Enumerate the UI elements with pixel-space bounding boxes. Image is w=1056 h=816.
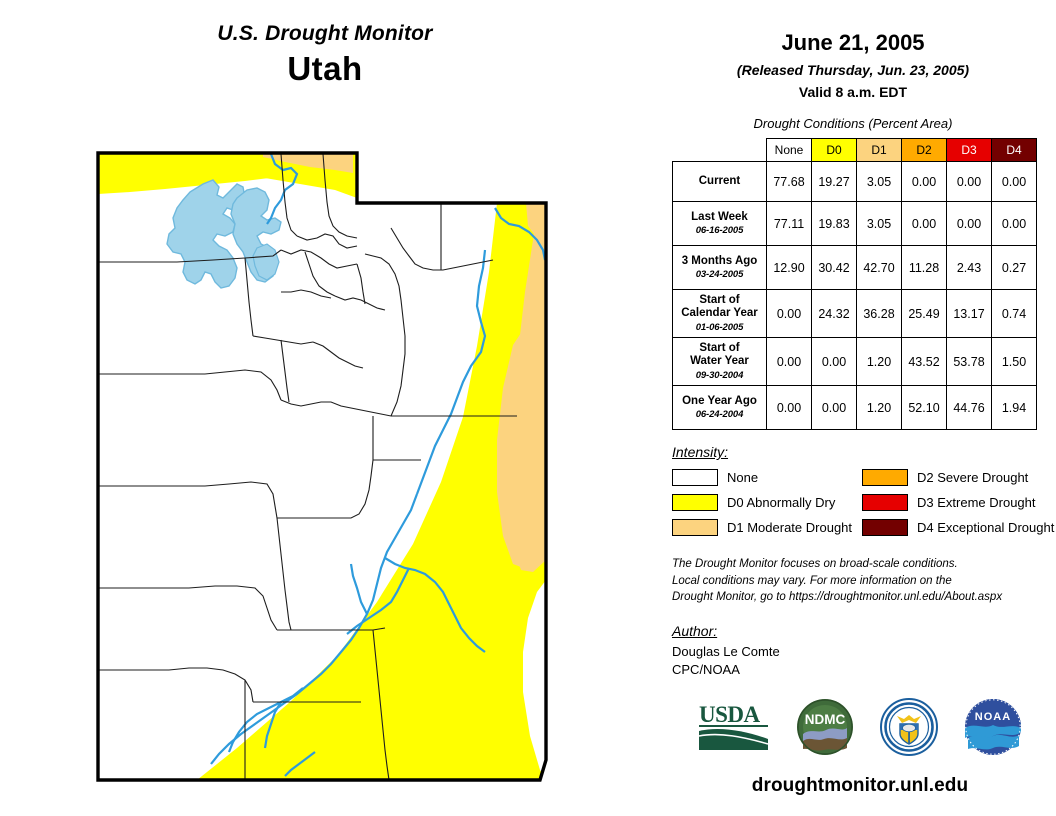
row-label-text: Start ofWater Year [690, 342, 749, 368]
table-row: Last Week 06-16-2005 77.11 19.83 3.05 0.… [673, 202, 1037, 246]
row-label-last-week: Last Week 06-16-2005 [673, 202, 767, 246]
swatch-d0 [672, 494, 718, 511]
cell-oneyr-d4: 1.94 [992, 386, 1037, 430]
cell-3mo-d4: 0.27 [992, 246, 1037, 290]
svg-text:NOAA: NOAA [975, 711, 1011, 723]
cell-wat-d1: 1.20 [857, 338, 902, 386]
column-header-d2: D2 [902, 139, 947, 162]
cell-oneyr-d2: 52.10 [902, 386, 947, 430]
cell-3mo-d0: 30.42 [812, 246, 857, 290]
map-fill-layer [85, 140, 610, 795]
cell-3mo-d3: 2.43 [947, 246, 992, 290]
cell-current-d2: 0.00 [902, 162, 947, 202]
cell-cal-d1: 36.28 [857, 290, 902, 338]
row-label-text: Current [699, 175, 741, 187]
disclaimer-text: The Drought Monitor focuses on broad-sca… [650, 556, 1056, 606]
table-header-row: None D0 D1 D2 D3 D4 [673, 139, 1037, 162]
logo-row: USDA NDMC [650, 698, 1056, 761]
utah-drought-map[interactable] [85, 140, 610, 795]
cell-lastweek-d4: 0.00 [992, 202, 1037, 246]
column-header-d1: D1 [857, 139, 902, 162]
column-header-d4: D4 [992, 139, 1037, 162]
legend-item-d4: D4 Exceptional Drought [862, 515, 1052, 540]
cell-current-none: 77.68 [767, 162, 812, 202]
legend-item-d1: D1 Moderate Drought [672, 515, 862, 540]
cell-lastweek-d2: 0.00 [902, 202, 947, 246]
legend-label-d4: D4 Exceptional Drought [917, 520, 1054, 535]
legend-label-d3: D3 Extreme Drought [917, 495, 1036, 510]
row-label-current: Current [673, 162, 767, 202]
table-corner-cell [673, 139, 767, 162]
cell-oneyr-d3: 44.76 [947, 386, 992, 430]
map-title-block: U.S. Drought Monitor Utah [0, 22, 650, 88]
map-panel: U.S. Drought Monitor Utah [0, 0, 650, 816]
cell-oneyr-d1: 1.20 [857, 386, 902, 430]
legend-label-none: None [727, 470, 758, 485]
table-row: 3 Months Ago 03-24-2005 12.90 30.42 42.7… [673, 246, 1037, 290]
site-url[interactable]: droughtmonitor.unl.edu [650, 775, 1056, 797]
author-affiliation: CPC/NOAA [672, 661, 1056, 679]
disclaimer-line: The Drought Monitor focuses on broad-sca… [672, 556, 1056, 573]
row-label-3-months-ago: 3 Months Ago 03-24-2005 [673, 246, 767, 290]
disclaimer-line: Local conditions may vary. For more info… [672, 573, 1056, 590]
row-label-text: 3 Months Ago [682, 255, 758, 267]
author-name: Douglas Le Comte [672, 643, 1056, 661]
row-label-start-water-year: Start ofWater Year 09-30-2004 [673, 338, 767, 386]
row-label-date: 06-16-2005 [675, 225, 764, 236]
cell-cal-d2: 25.49 [902, 290, 947, 338]
row-label-date: 06-24-2004 [675, 409, 764, 420]
swatch-none [672, 469, 718, 486]
cell-current-d3: 0.00 [947, 162, 992, 202]
legend-item-d3: D3 Extreme Drought [862, 490, 1052, 515]
cell-3mo-none: 12.90 [767, 246, 812, 290]
column-header-d0: D0 [812, 139, 857, 162]
usdc-seal-logo [880, 698, 938, 761]
legend-label-d1: D1 Moderate Drought [727, 520, 852, 535]
swatch-d2 [862, 469, 908, 486]
cell-current-d1: 3.05 [857, 162, 902, 202]
cell-lastweek-d3: 0.00 [947, 202, 992, 246]
cell-cal-d0: 24.32 [812, 290, 857, 338]
page-title: U.S. Drought Monitor [0, 22, 650, 46]
svg-text:USDA: USDA [699, 702, 761, 727]
drought-conditions-table: None D0 D1 D2 D3 D4 Current 77.68 19.27 … [672, 138, 1037, 430]
table-row: Start ofWater Year 09-30-2004 0.00 0.00 … [673, 338, 1037, 386]
legend-column-right: D2 Severe Drought D3 Extreme Drought D4 … [862, 465, 1052, 540]
cell-cal-none: 0.00 [767, 290, 812, 338]
cell-lastweek-d1: 3.05 [857, 202, 902, 246]
column-header-d3: D3 [947, 139, 992, 162]
state-title: Utah [0, 50, 650, 88]
table-row: Start ofCalendar Year 01-06-2005 0.00 24… [673, 290, 1037, 338]
cell-wat-none: 0.00 [767, 338, 812, 386]
legend-label-d0: D0 Abnormally Dry [727, 495, 835, 510]
table-row: Current 77.68 19.27 3.05 0.00 0.00 0.00 [673, 162, 1037, 202]
cell-wat-d3: 53.78 [947, 338, 992, 386]
row-label-text: Start ofCalendar Year [681, 294, 758, 320]
author-title: Author: [672, 623, 1056, 639]
usda-logo: USDA [698, 700, 770, 759]
intensity-legend: Intensity: None D0 Abnormally Dry D1 Mod… [650, 444, 1056, 540]
cell-cal-d3: 13.17 [947, 290, 992, 338]
column-header-none: None [767, 139, 812, 162]
swatch-d1 [672, 519, 718, 536]
legend-column-left: None D0 Abnormally Dry D1 Moderate Droug… [672, 465, 862, 540]
noaa-logo: NOAA [964, 698, 1022, 761]
row-label-date: 03-24-2005 [675, 269, 764, 280]
info-panel: June 21, 2005 (Released Thursday, Jun. 2… [650, 0, 1056, 816]
cell-cal-d4: 0.74 [992, 290, 1037, 338]
cell-3mo-d1: 42.70 [857, 246, 902, 290]
disclaimer-line: Drought Monitor, go to https://droughtmo… [672, 589, 1056, 606]
table-caption: Drought Conditions (Percent Area) [650, 116, 1056, 131]
cell-3mo-d2: 11.28 [902, 246, 947, 290]
drought-conditions-table-wrap: None D0 D1 D2 D3 D4 Current 77.68 19.27 … [650, 138, 1056, 430]
intensity-legend-title: Intensity: [672, 444, 1056, 460]
row-label-start-calendar-year: Start ofCalendar Year 01-06-2005 [673, 290, 767, 338]
cell-oneyr-none: 0.00 [767, 386, 812, 430]
svg-text:NDMC: NDMC [805, 712, 846, 727]
map-date: June 21, 2005 [650, 30, 1056, 56]
row-label-one-year-ago: One Year Ago 06-24-2004 [673, 386, 767, 430]
cell-wat-d0: 0.00 [812, 338, 857, 386]
row-label-date: 01-06-2005 [675, 322, 764, 333]
table-row: One Year Ago 06-24-2004 0.00 0.00 1.20 5… [673, 386, 1037, 430]
swatch-d3 [862, 494, 908, 511]
date-block: June 21, 2005 (Released Thursday, Jun. 2… [650, 0, 1056, 100]
release-date: (Released Thursday, Jun. 23, 2005) [650, 62, 1056, 78]
map-svg [85, 140, 610, 795]
cell-oneyr-d0: 0.00 [812, 386, 857, 430]
legend-item-d0: D0 Abnormally Dry [672, 490, 862, 515]
legend-item-none: None [672, 465, 862, 490]
cell-lastweek-none: 77.11 [767, 202, 812, 246]
cell-wat-d2: 43.52 [902, 338, 947, 386]
legend-item-d2: D2 Severe Drought [862, 465, 1052, 490]
row-label-date: 09-30-2004 [675, 370, 764, 381]
cell-current-d4: 0.00 [992, 162, 1037, 202]
cell-lastweek-d0: 19.83 [812, 202, 857, 246]
author-block: Author: Douglas Le Comte CPC/NOAA [650, 623, 1056, 680]
row-label-text: One Year Ago [682, 395, 757, 407]
cell-wat-d4: 1.50 [992, 338, 1037, 386]
cell-current-d0: 19.27 [812, 162, 857, 202]
ndmc-logo: NDMC [796, 698, 854, 761]
legend-label-d2: D2 Severe Drought [917, 470, 1028, 485]
row-label-text: Last Week [691, 211, 748, 223]
valid-time: Valid 8 a.m. EDT [650, 84, 1056, 100]
swatch-d4 [862, 519, 908, 536]
